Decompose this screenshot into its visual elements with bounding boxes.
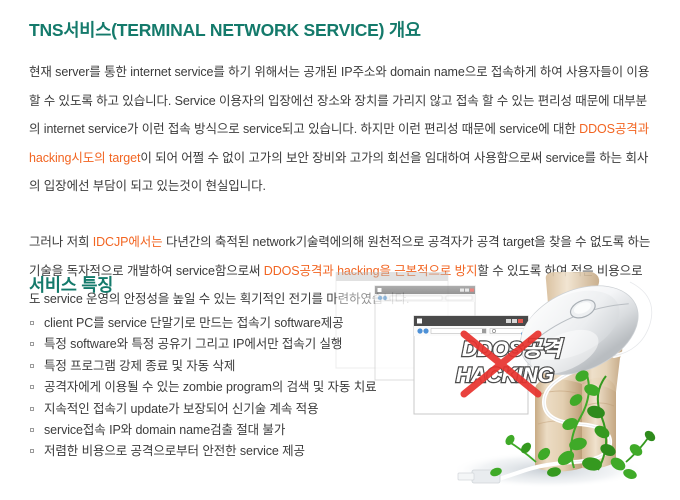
list-item-label: service접속 IP와 domain name검출 절대 불가 bbox=[44, 423, 285, 437]
paragraph-2-segment-1: 그러나 저희 bbox=[29, 235, 93, 249]
list-item: 공격자에게 이용될 수 있는 zombie program의 검색 및 자동 치… bbox=[30, 377, 450, 398]
bullet-square-icon bbox=[30, 321, 34, 325]
bullet-square-icon bbox=[30, 407, 34, 411]
svg-text:DDOS공격: DDOS공격 bbox=[462, 338, 564, 361]
page-title: TNS서비스(TERMINAL NETWORK SERVICE) 개요 bbox=[29, 17, 421, 42]
bullet-square-icon bbox=[30, 428, 34, 432]
list-item: 저렴한 비용으로 공격으로부터 안전한 service 제공 bbox=[30, 441, 450, 462]
slide-page: DDOS공격 DDOS공격 HACKING HACKING TNS서비스(TER… bbox=[0, 0, 680, 500]
list-item-label: 공격자에게 이용될 수 있는 zombie program의 검색 및 자동 치… bbox=[44, 380, 377, 394]
bullet-square-icon bbox=[30, 342, 34, 346]
list-item-label: 특정 software와 특정 공유기 그리고 IP에서만 접속기 실행 bbox=[44, 337, 342, 351]
svg-text:HACKING: HACKING bbox=[456, 364, 554, 387]
bullet-square-icon bbox=[30, 385, 34, 389]
list-item: 특정 software와 특정 공유기 그리고 IP에서만 접속기 실행 bbox=[30, 334, 450, 355]
list-item-label: 저렴한 비용으로 공격으로부터 안전한 service 제공 bbox=[44, 444, 305, 458]
features-section-title: 서비스 특징 bbox=[29, 272, 113, 297]
green-vines bbox=[489, 368, 657, 481]
list-item: 특정 프로그램 강제 종료 및 자동 삭제 bbox=[30, 356, 450, 377]
usb-plug bbox=[458, 470, 500, 483]
overview-paragraph-1: 현재 server를 통한 internet service를 하기 위해서는 … bbox=[29, 58, 651, 201]
list-item: service접속 IP와 domain name검출 절대 불가 bbox=[30, 420, 450, 441]
list-item-label: client PC를 service 단말기로 만드는 접속기 software… bbox=[44, 316, 344, 330]
ddos-hacking-stamp: DDOS공격 DDOS공격 HACKING HACKING bbox=[456, 338, 564, 387]
paragraph-1-segment-1: 현재 server를 통한 internet service를 하기 위해서는 … bbox=[29, 65, 649, 136]
bullet-square-icon bbox=[30, 449, 34, 453]
stamp-line-2: HACKING bbox=[456, 364, 554, 387]
features-list: client PC를 service 단말기로 만드는 접속기 software… bbox=[30, 313, 450, 463]
stamp-line-1: DDOS공격 bbox=[462, 338, 564, 361]
list-item: client PC를 service 단말기로 만드는 접속기 software… bbox=[30, 313, 450, 334]
paragraph-2-highlight-2: DDOS공격과 hacking을 근본적으로 방지 bbox=[264, 264, 478, 278]
overview-paragraph-2: 그러나 저희 IDCJP에서는 다년간의 축적된 network기술력에의해 원… bbox=[29, 228, 651, 314]
list-item: 지속적인 접속기 update가 보장되어 신기술 계속 적용 bbox=[30, 399, 450, 420]
paragraph-2-highlight-1: IDCJP에서는 bbox=[93, 235, 163, 249]
bullet-square-icon bbox=[30, 364, 34, 368]
overview-text: 현재 server를 통한 internet service를 하기 위해서는 … bbox=[29, 58, 651, 314]
list-item-label: 지속적인 접속기 update가 보장되어 신기술 계속 적용 bbox=[44, 402, 318, 416]
list-item-label: 특정 프로그램 강제 종료 및 자동 삭제 bbox=[44, 359, 235, 373]
red-cross-out bbox=[464, 334, 538, 394]
